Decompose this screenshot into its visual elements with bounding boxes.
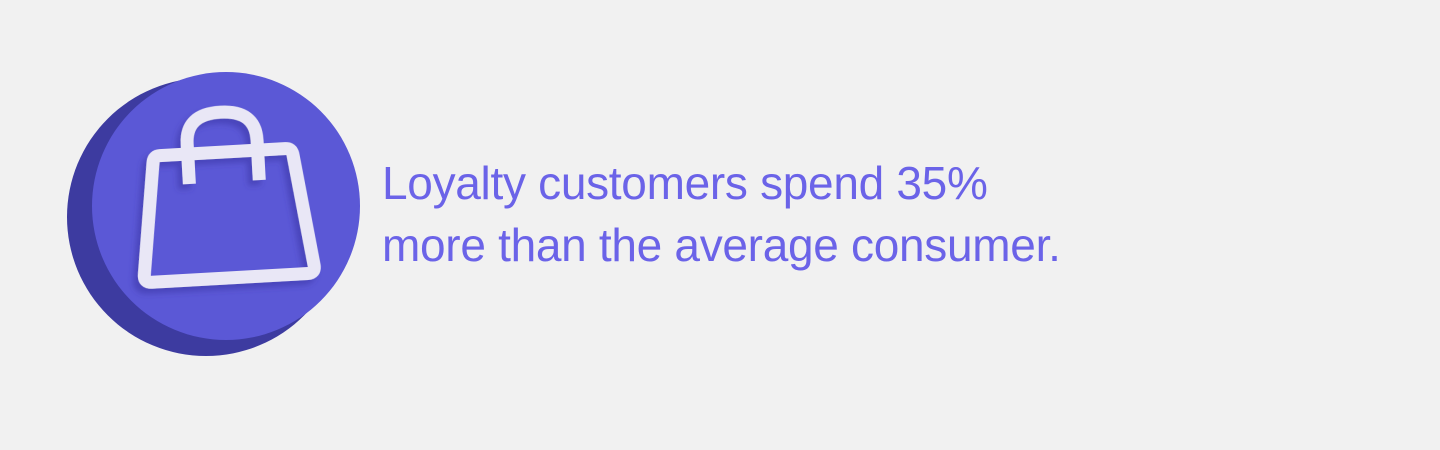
statement-line-2: more than the average consumer. (382, 214, 1282, 276)
statement-text: Loyalty customers spend 35% more than th… (382, 152, 1282, 276)
loyalty-stat-banner: Loyalty customers spend 35% more than th… (0, 0, 1440, 450)
shopping-bag-badge (60, 66, 350, 366)
statement-line-1: Loyalty customers spend 35% (382, 152, 1282, 214)
shopping-bag-icon (92, 72, 360, 340)
bag-body-shape (138, 147, 315, 282)
